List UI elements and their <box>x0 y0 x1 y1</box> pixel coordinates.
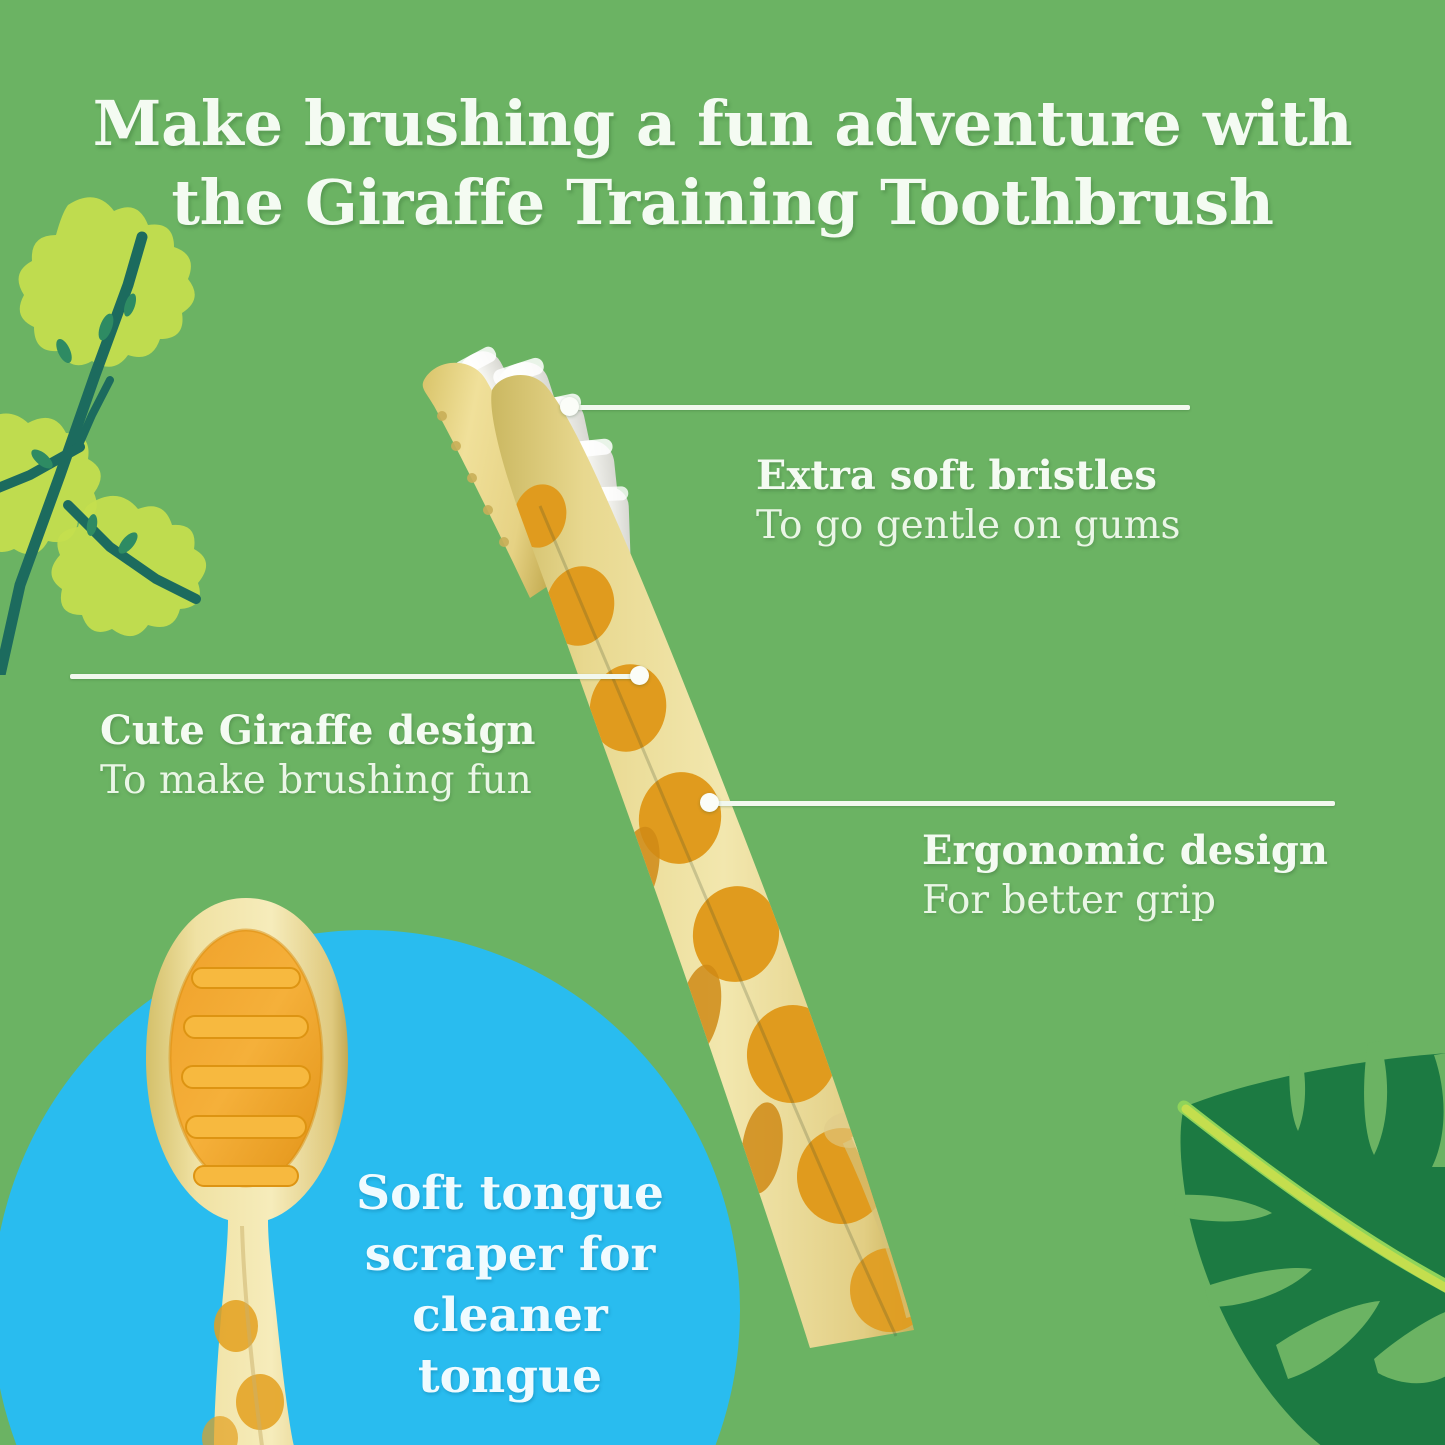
scraper-line-4: tongue <box>335 1346 685 1407</box>
page-title: Make brushing a fun adventure with the G… <box>0 84 1445 243</box>
leader-bar <box>570 405 1190 410</box>
headline-line-2: the Giraffe Training Toothbrush <box>0 163 1445 242</box>
leader-bar <box>70 674 640 679</box>
callout-bristles: Extra soft bristles To go gentle on gums <box>756 452 1181 550</box>
leader-dot <box>700 793 719 812</box>
fern-branch-decoration <box>0 175 260 675</box>
monstera-leaf-decoration <box>1148 1015 1445 1445</box>
callout-title: Cute Giraffe design <box>100 707 536 754</box>
callout-ergonomic-design: Ergonomic design For better grip <box>922 827 1328 925</box>
callout-title: Extra soft bristles <box>756 452 1181 499</box>
scraper-line-1: Soft tongue <box>335 1163 685 1224</box>
leader-line-bristles <box>560 403 1190 411</box>
leader-line-ergonomic <box>700 799 1335 807</box>
scraper-line-2: scraper for <box>335 1224 685 1285</box>
callout-subtitle: To make brushing fun <box>100 758 536 805</box>
callout-giraffe-design: Cute Giraffe design To make brushing fun <box>100 707 536 805</box>
callout-tongue-scraper: Soft tongue scraper for cleaner tongue <box>335 1163 685 1407</box>
leader-dot <box>560 397 579 416</box>
callout-subtitle: For better grip <box>922 878 1328 925</box>
leader-dot <box>630 666 649 685</box>
callout-title: Ergonomic design <box>922 827 1328 874</box>
scraper-line-3: cleaner <box>335 1285 685 1346</box>
leader-bar <box>710 801 1335 806</box>
headline-line-1: Make brushing a fun adventure with <box>93 87 1353 160</box>
callout-subtitle: To go gentle on gums <box>756 503 1181 550</box>
leader-line-giraffe <box>70 672 650 680</box>
infographic-canvas: Make brushing a fun adventure with the G… <box>0 0 1445 1445</box>
